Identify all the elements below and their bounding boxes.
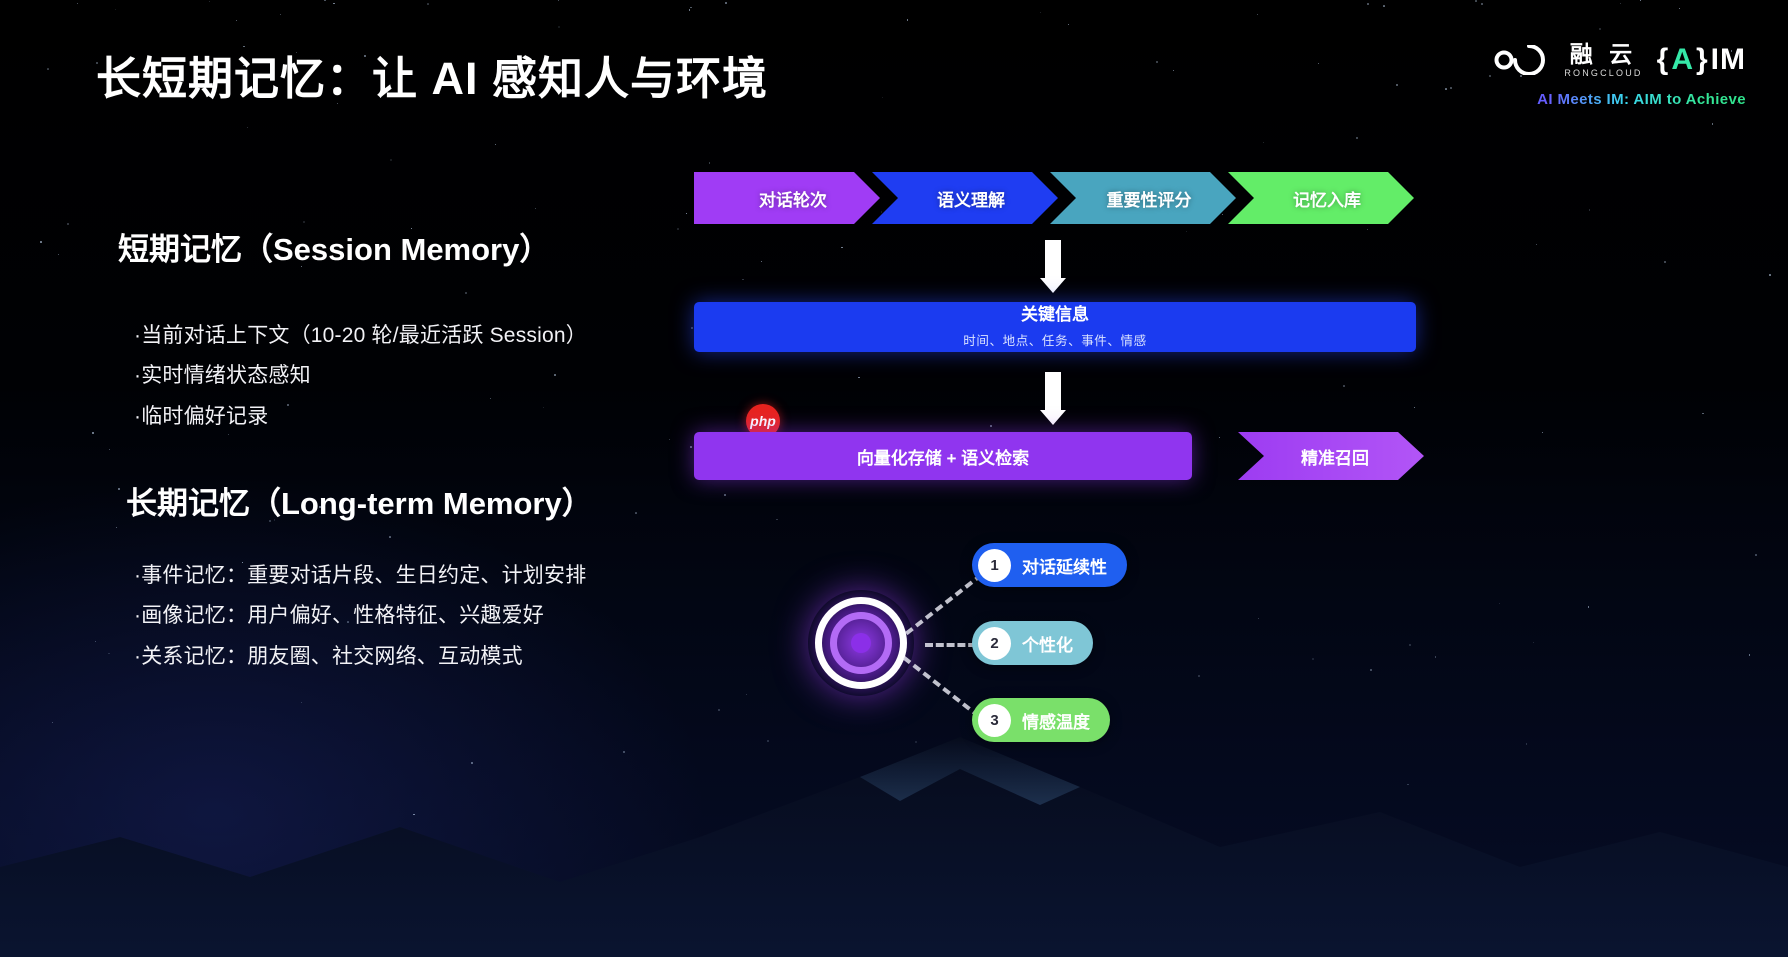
section-heading-session-memory: 短期记忆（Session Memory） — [118, 224, 550, 269]
section-heading-long-term-memory: 长期记忆（Long-term Memory） — [126, 478, 593, 523]
aim-a-glyph: A — [1671, 43, 1694, 77]
list-item: ·关系记忆：朋友圈、社交网络、互动模式 — [134, 637, 586, 677]
key-info-title: 关键信息 — [1021, 305, 1089, 325]
flow-step-chevron[interactable]: 重要性评分 — [1050, 172, 1236, 224]
rongcloud-mark-icon — [1491, 45, 1557, 75]
bullet-list-session-memory: ·当前对话上下文（10-20 轮/最近活跃 Session） ·实时情绪状态感知… — [134, 316, 587, 437]
vector-storage-label: 向量化存储 + 语义检索 — [857, 444, 1029, 469]
list-item: ·临时偏好记录 — [134, 397, 587, 437]
slide-canvas: 长短期记忆：让 AI 感知人与环境 融 云 RONGCLOUD {A}IM AI… — [0, 0, 1788, 957]
aim-logo: {A}IM — [1657, 43, 1746, 77]
flow-step-chevron[interactable]: 对话轮次 — [694, 172, 880, 224]
rongcloud-en: RONGCLOUD — [1564, 69, 1642, 78]
flow-step-label: 记忆入库 — [1293, 186, 1361, 211]
aim-im-text: IM — [1711, 43, 1746, 77]
flow-step-chevron[interactable]: 语义理解 — [872, 172, 1058, 224]
list-item: ·实时情绪状态感知 — [134, 356, 587, 396]
aim-brace-open: { — [1657, 43, 1670, 77]
flow-arrow-down-1 — [1040, 240, 1066, 293]
flow-step-label: 对话轮次 — [759, 186, 827, 211]
outcome-number: 2 — [978, 627, 1011, 660]
outcome-pill-1[interactable]: 1 对话延续性 — [972, 543, 1127, 587]
rongcloud-logo: 融 云 RONGCLOUD — [1491, 43, 1642, 78]
page-title: 长短期记忆：让 AI 感知人与环境 — [96, 42, 768, 107]
target-bullseye-icon — [808, 590, 914, 696]
outcome-label: 个性化 — [1022, 631, 1073, 656]
flow-step-label: 重要性评分 — [1107, 186, 1192, 211]
list-item: ·画像记忆：用户偏好、性格特征、兴趣爱好 — [134, 596, 586, 636]
bullet-list-long-term-memory: ·事件记忆：重要对话片段、生日约定、计划安排 ·画像记忆：用户偏好、性格特征、兴… — [134, 556, 586, 677]
brand-block: 融 云 RONGCLOUD {A}IM AI Meets IM: AIM to … — [1491, 38, 1746, 108]
rongcloud-cn: 融 云 — [1570, 43, 1637, 66]
key-info-subtitle: 时间、地点、任务、事件、情感 — [963, 330, 1146, 349]
outcome-number: 3 — [978, 704, 1011, 737]
outcome-pill-3[interactable]: 3 情感温度 — [972, 698, 1110, 742]
vector-storage-box: 向量化存储 + 语义检索 — [694, 432, 1192, 480]
outcome-label: 对话延续性 — [1022, 553, 1107, 578]
list-item: ·当前对话上下文（10-20 轮/最近活跃 Session） — [134, 316, 587, 356]
brand-tagline: AI Meets IM: AIM to Achieve — [1491, 91, 1746, 108]
recall-chevron: 精准召回 — [1238, 432, 1424, 480]
outcome-label: 情感温度 — [1022, 708, 1090, 733]
aim-brace-close: } — [1696, 43, 1709, 77]
list-item: ·事件记忆：重要对话片段、生日约定、计划安排 — [134, 556, 586, 596]
flow-chevron-row: 对话轮次语义理解重要性评分记忆入库 — [694, 172, 1414, 224]
flow-arrow-down-2 — [1040, 372, 1066, 425]
outcome-number: 1 — [978, 549, 1011, 582]
key-info-box: 关键信息 时间、地点、任务、事件、情感 — [694, 302, 1416, 352]
recall-chevron-label: 精准召回 — [1301, 444, 1369, 469]
outcome-pill-2[interactable]: 2 个性化 — [972, 621, 1093, 665]
flow-step-chevron[interactable]: 记忆入库 — [1228, 172, 1414, 224]
flow-step-label: 语义理解 — [937, 186, 1005, 211]
mountain-silhouette — [0, 717, 1788, 957]
